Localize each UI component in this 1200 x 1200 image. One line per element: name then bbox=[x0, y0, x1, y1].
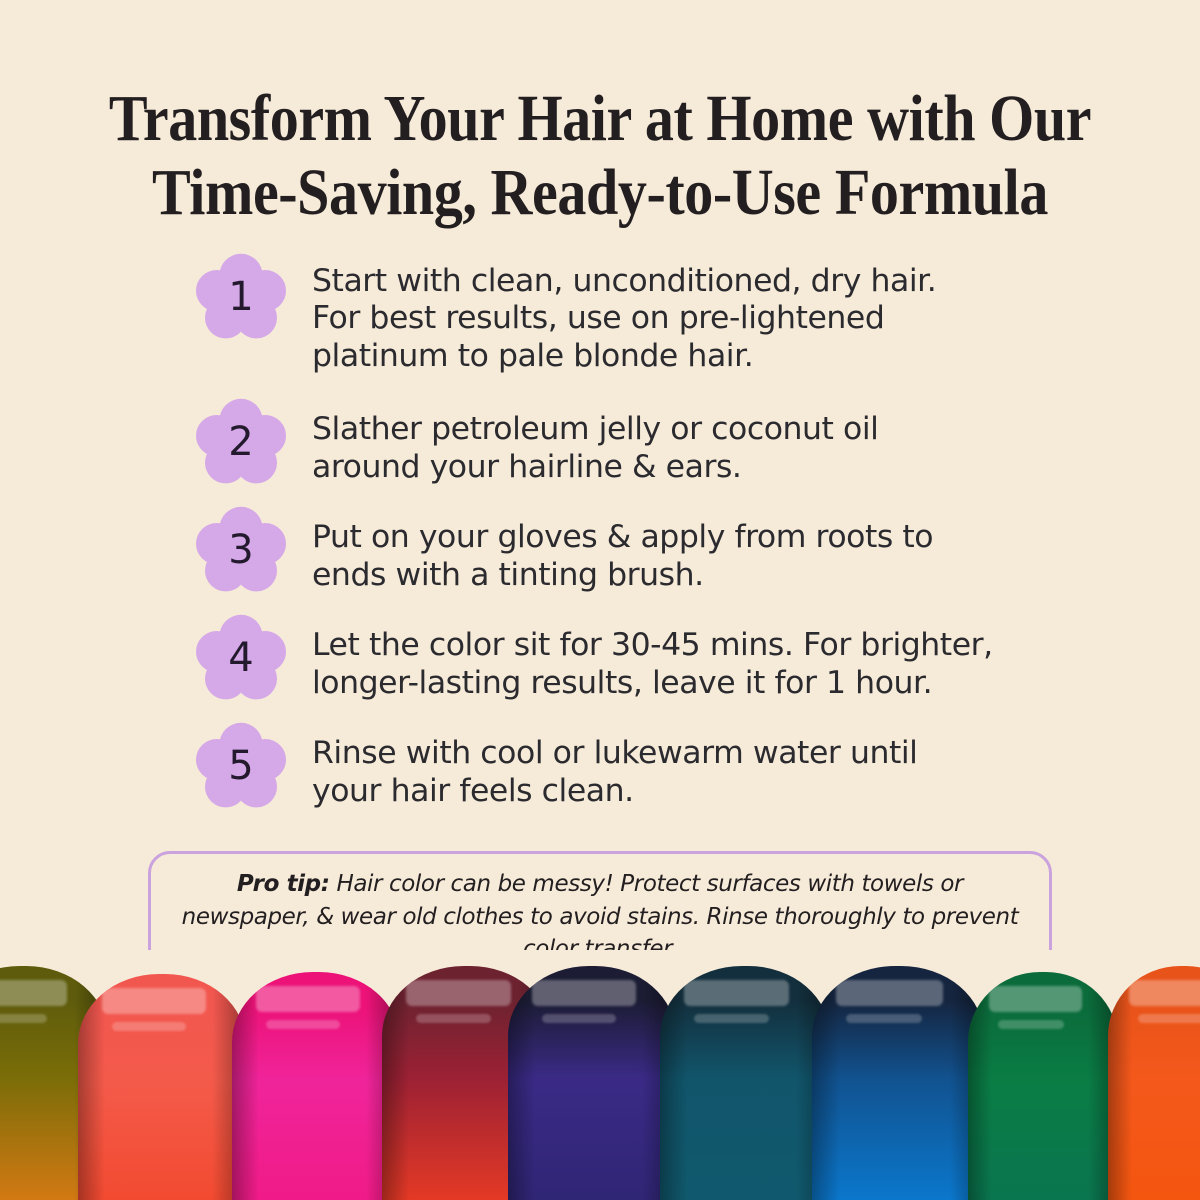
step-text: Put on your gloves & apply from roots to… bbox=[312, 505, 1096, 594]
color-swatch bbox=[78, 974, 246, 1200]
steps-list: 1 Start with clean, unconditioned, dry h… bbox=[196, 252, 1096, 829]
step-text: Start with clean, unconditioned, dry hai… bbox=[312, 252, 1096, 375]
swatch-gloss-highlight-secondary bbox=[266, 1020, 340, 1029]
swatch-gloss-highlight-secondary bbox=[542, 1014, 616, 1023]
color-swatch bbox=[232, 972, 400, 1200]
swatch-gloss-highlight bbox=[532, 980, 636, 1006]
step-number: 5 bbox=[228, 746, 253, 786]
swatch-left-shading bbox=[78, 974, 105, 1200]
step-number: 1 bbox=[228, 277, 253, 317]
swatch-gloss-highlight bbox=[989, 986, 1082, 1012]
swatch-gloss-highlight bbox=[0, 980, 67, 1006]
step-number: 3 bbox=[228, 530, 253, 570]
color-swatch-strip bbox=[0, 950, 1200, 1200]
swatch-left-shading bbox=[508, 966, 535, 1200]
list-item: 2 Slather petroleum jelly or coconut oil… bbox=[196, 397, 1096, 487]
swatch-gloss-highlight bbox=[406, 980, 511, 1006]
color-swatch bbox=[508, 966, 676, 1200]
swatch-gloss-highlight bbox=[256, 986, 360, 1012]
color-swatch bbox=[968, 972, 1118, 1200]
pro-tip-label: Pro tip: bbox=[237, 871, 330, 897]
swatch-gloss-highlight-secondary bbox=[416, 1014, 491, 1023]
step-text: Slather petroleum jelly or coconut oil a… bbox=[312, 397, 1096, 486]
swatch-gloss-highlight-secondary bbox=[998, 1020, 1064, 1029]
swatch-gloss-highlight-secondary bbox=[846, 1014, 922, 1023]
step-text: Rinse with cool or lukewarm water until … bbox=[312, 721, 1096, 810]
flower-badge-icon: 1 bbox=[196, 252, 286, 342]
swatch-gloss-highlight bbox=[102, 988, 206, 1014]
list-item: 4 Let the color sit for 30-45 mins. For … bbox=[196, 613, 1096, 703]
color-swatch bbox=[660, 966, 830, 1200]
step-number: 4 bbox=[228, 638, 253, 678]
color-swatch bbox=[812, 966, 984, 1200]
swatch-gloss-highlight bbox=[684, 980, 789, 1006]
step-text: Let the color sit for 30-45 mins. For br… bbox=[312, 613, 1096, 702]
page-title-line-1: Transform Your Hair at Home with Our bbox=[107, 82, 1093, 156]
swatch-gloss-highlight-secondary bbox=[1138, 1014, 1200, 1023]
swatch-gloss-highlight bbox=[1129, 980, 1200, 1006]
page-title: Transform Your Hair at Home with Our Tim… bbox=[72, 82, 1128, 230]
step-number: 2 bbox=[228, 422, 253, 462]
list-item: 5 Rinse with cool or lukewarm water unti… bbox=[196, 721, 1096, 811]
color-swatch bbox=[1108, 966, 1200, 1200]
flower-badge-icon: 3 bbox=[196, 505, 286, 595]
swatch-left-shading bbox=[232, 972, 259, 1200]
flower-badge-icon: 4 bbox=[196, 613, 286, 703]
swatch-gloss-highlight-secondary bbox=[694, 1014, 769, 1023]
flower-badge-icon: 2 bbox=[196, 397, 286, 487]
list-item: 1 Start with clean, unconditioned, dry h… bbox=[196, 252, 1096, 375]
swatch-gloss-highlight bbox=[836, 980, 943, 1006]
flower-badge-icon: 5 bbox=[196, 721, 286, 811]
swatch-gloss-highlight-secondary bbox=[112, 1022, 186, 1031]
swatch-gloss-highlight-secondary bbox=[0, 1014, 47, 1023]
infographic-page: Transform Your Hair at Home with Our Tim… bbox=[0, 0, 1200, 1200]
page-title-line-2: Time-Saving, Ready-to-Use Formula bbox=[107, 156, 1093, 230]
list-item: 3 Put on your gloves & apply from roots … bbox=[196, 505, 1096, 595]
